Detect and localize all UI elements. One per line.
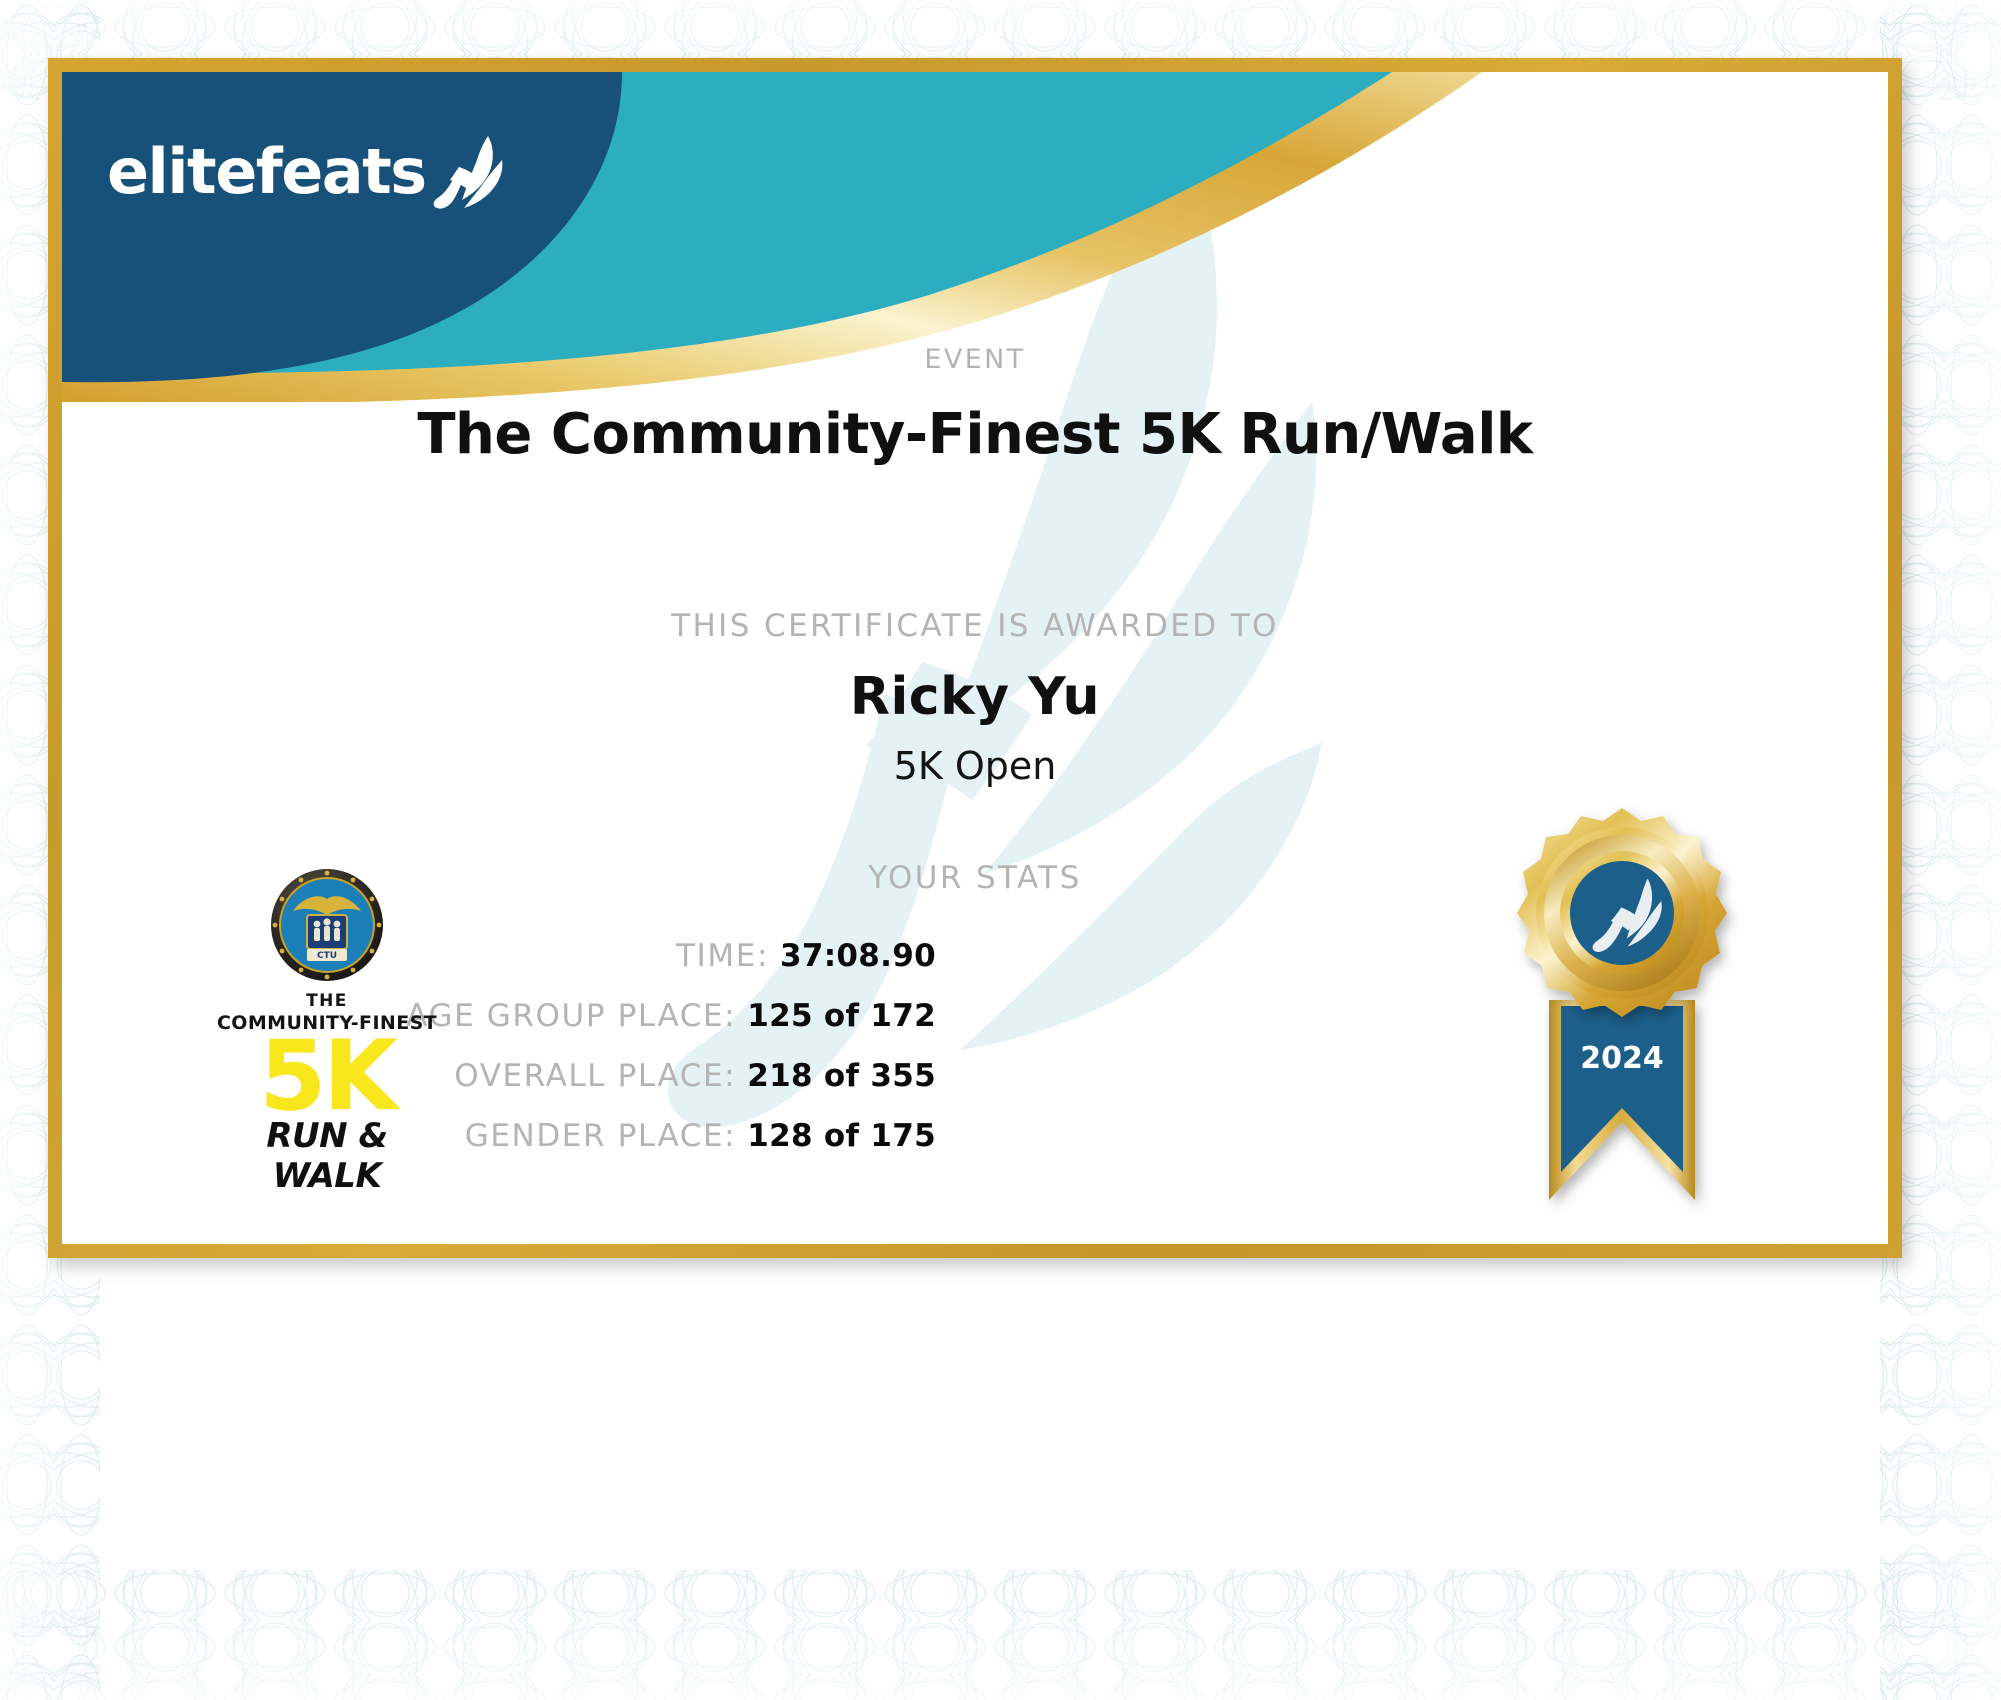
- recipient-division: 5K Open: [62, 744, 1888, 788]
- stat-key: OVERALL PLACE:: [454, 1058, 736, 1094]
- svg-text:CTU: CTU: [317, 951, 337, 961]
- event-label: EVENT: [62, 344, 1888, 375]
- race-logo-subtitle: RUN & WALK: [212, 1116, 442, 1196]
- gold-rosette-medal-icon: 2024: [1491, 800, 1753, 1244]
- nypd-community-affairs-badge-icon: CTU: [269, 867, 385, 983]
- stat-row: GENDER PLACE: 128 of 175: [62, 1118, 936, 1154]
- race-logo-distance: 5K: [212, 1032, 442, 1120]
- stat-row: TIME: 37:08.90: [62, 938, 936, 974]
- stat-value: 37:08.90: [780, 938, 936, 974]
- stat-key: GENDER PLACE:: [465, 1118, 736, 1154]
- elitefeats-logo: elitefeats: [107, 134, 506, 210]
- certificate-gold-frame: elitefeats EVENT The Community-Finest 5K…: [48, 58, 1902, 1258]
- race-event-logo: CTU THE COMMUNITY-FINEST 5K RUN & WALK: [212, 867, 442, 1196]
- stat-value: 128 of 175: [747, 1118, 936, 1154]
- stat-value: 125 of 172: [747, 998, 936, 1034]
- awarded-to-label: THIS CERTIFICATE IS AWARDED TO: [62, 608, 1888, 644]
- finisher-medal: 2024: [1457, 800, 1787, 1244]
- medal-year-text: 2024: [1580, 1041, 1664, 1076]
- stat-value: 218 of 355: [747, 1058, 936, 1094]
- stat-row: AGE GROUP PLACE: 125 of 172: [62, 998, 936, 1034]
- brand-wordmark: elitefeats: [107, 141, 426, 203]
- recipient-name: Ricky Yu: [62, 667, 1888, 727]
- stat-row: OVERALL PLACE: 218 of 355: [62, 1058, 936, 1094]
- winged-foot-icon: [432, 134, 506, 210]
- event-title: The Community-Finest 5K Run/Walk: [62, 402, 1888, 467]
- stat-key: AGE GROUP PLACE:: [406, 998, 736, 1034]
- race-logo-the: THE: [212, 991, 442, 1011]
- race-badge-wrap: CTU: [212, 867, 442, 983]
- certificate-body: elitefeats EVENT The Community-Finest 5K…: [62, 72, 1888, 1244]
- stat-key: TIME:: [676, 938, 769, 974]
- stats-list: TIME: 37:08.90 AGE GROUP PLACE: 125 of 1…: [62, 938, 936, 1178]
- medal-graphic-wrap: 2024: [1457, 800, 1787, 1244]
